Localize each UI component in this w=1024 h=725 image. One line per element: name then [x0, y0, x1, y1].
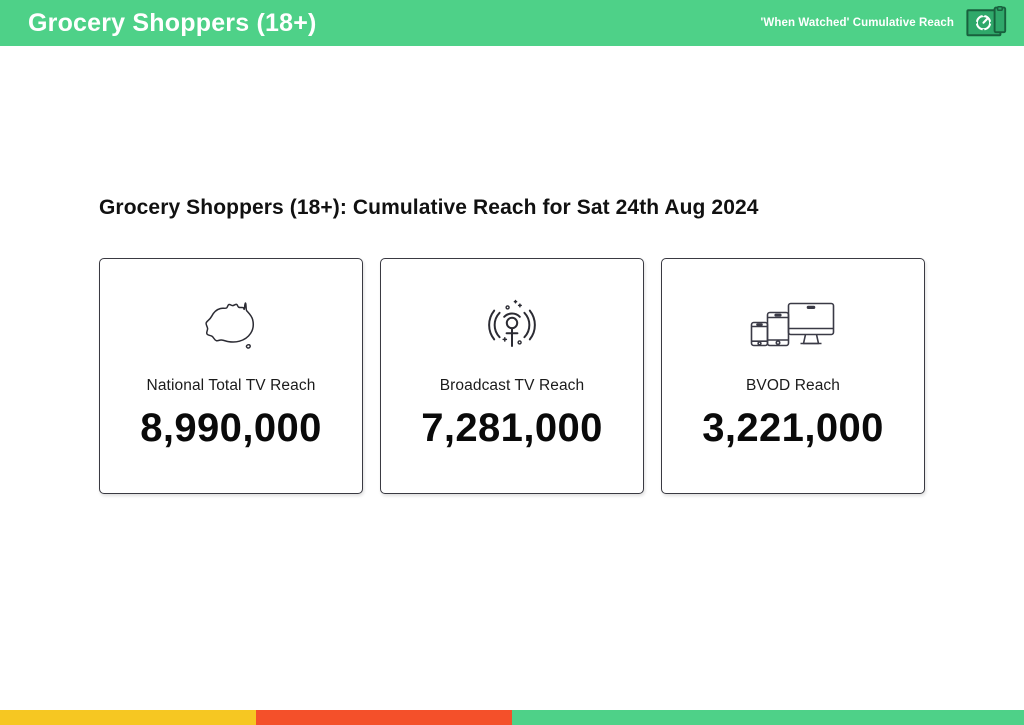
footer-stripe-red [256, 710, 512, 725]
metric-cards-row: National Total TV Reach 8,990,000 [99, 258, 925, 496]
main-content: Grocery Shoppers (18+): Cumulative Reach… [0, 46, 1024, 710]
footer-stripe-green [512, 710, 1024, 725]
metric-card-label: BVOD Reach [746, 377, 840, 395]
broadcast-signal-icon [457, 291, 567, 363]
footer-stripe-yellow [0, 710, 256, 725]
reach-gauge-device-logo-icon [966, 6, 1010, 40]
page-title: Grocery Shoppers (18+): Cumulative Reach… [99, 196, 759, 220]
metric-card-value: 7,281,000 [421, 407, 603, 449]
header-right-group: 'When Watched' Cumulative Reach [761, 6, 1010, 40]
australia-map-icon [176, 291, 286, 363]
metric-card-value: 8,990,000 [140, 407, 322, 449]
header-title: Grocery Shoppers (18+) [28, 11, 317, 36]
metric-card-value: 3,221,000 [702, 407, 884, 449]
app-header: Grocery Shoppers (18+) 'When Watched' Cu… [0, 0, 1024, 46]
metric-card-broadcast-tv[interactable]: Broadcast TV Reach 7,281,000 [380, 258, 644, 494]
metric-card-national-total-tv[interactable]: National Total TV Reach 8,990,000 [99, 258, 363, 494]
metric-card-label: National Total TV Reach [147, 377, 316, 395]
metric-card-label: Broadcast TV Reach [440, 377, 585, 395]
metric-card-bvod[interactable]: BVOD Reach 3,221,000 [661, 258, 925, 494]
header-subtitle: 'When Watched' Cumulative Reach [761, 17, 954, 29]
footer-color-bar [0, 710, 1024, 725]
dashboard-page: Grocery Shoppers (18+) 'When Watched' Cu… [0, 0, 1024, 725]
multi-device-icon [738, 291, 848, 363]
